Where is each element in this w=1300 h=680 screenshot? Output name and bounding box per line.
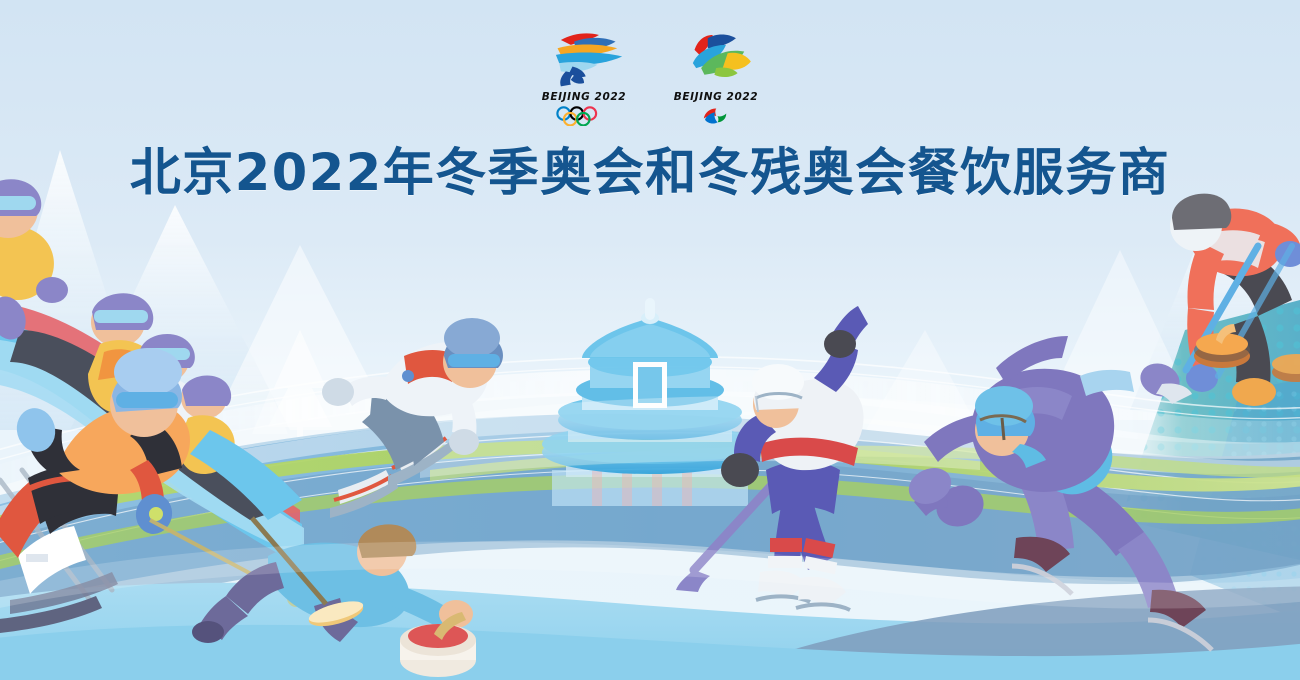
logo-row: BEIJING 2022 BEIJING 2022	[0, 30, 1300, 126]
olympic-logo: BEIJING 2022	[536, 30, 632, 126]
paralympic-logo: BEIJING 2022	[668, 30, 764, 126]
paralympic-wordmark: BEIJING 2022	[668, 91, 764, 103]
agitos-icon	[685, 106, 748, 126]
olympic-emblem-icon	[536, 30, 635, 88]
banner-title-wrap: 北京2022年冬季奥会和冬残奥会餐饮服务商	[0, 144, 1300, 204]
paralympic-emblem-icon	[668, 30, 767, 88]
olympic-rings-icon	[553, 106, 616, 126]
beijing-2022-banner: BEIJING 2022 BEIJING 2022	[0, 0, 1300, 680]
olympic-wordmark: BEIJING 2022	[536, 91, 632, 103]
banner-title: 北京2022年冬季奥会和冬残奥会餐饮服务商	[130, 144, 1170, 204]
